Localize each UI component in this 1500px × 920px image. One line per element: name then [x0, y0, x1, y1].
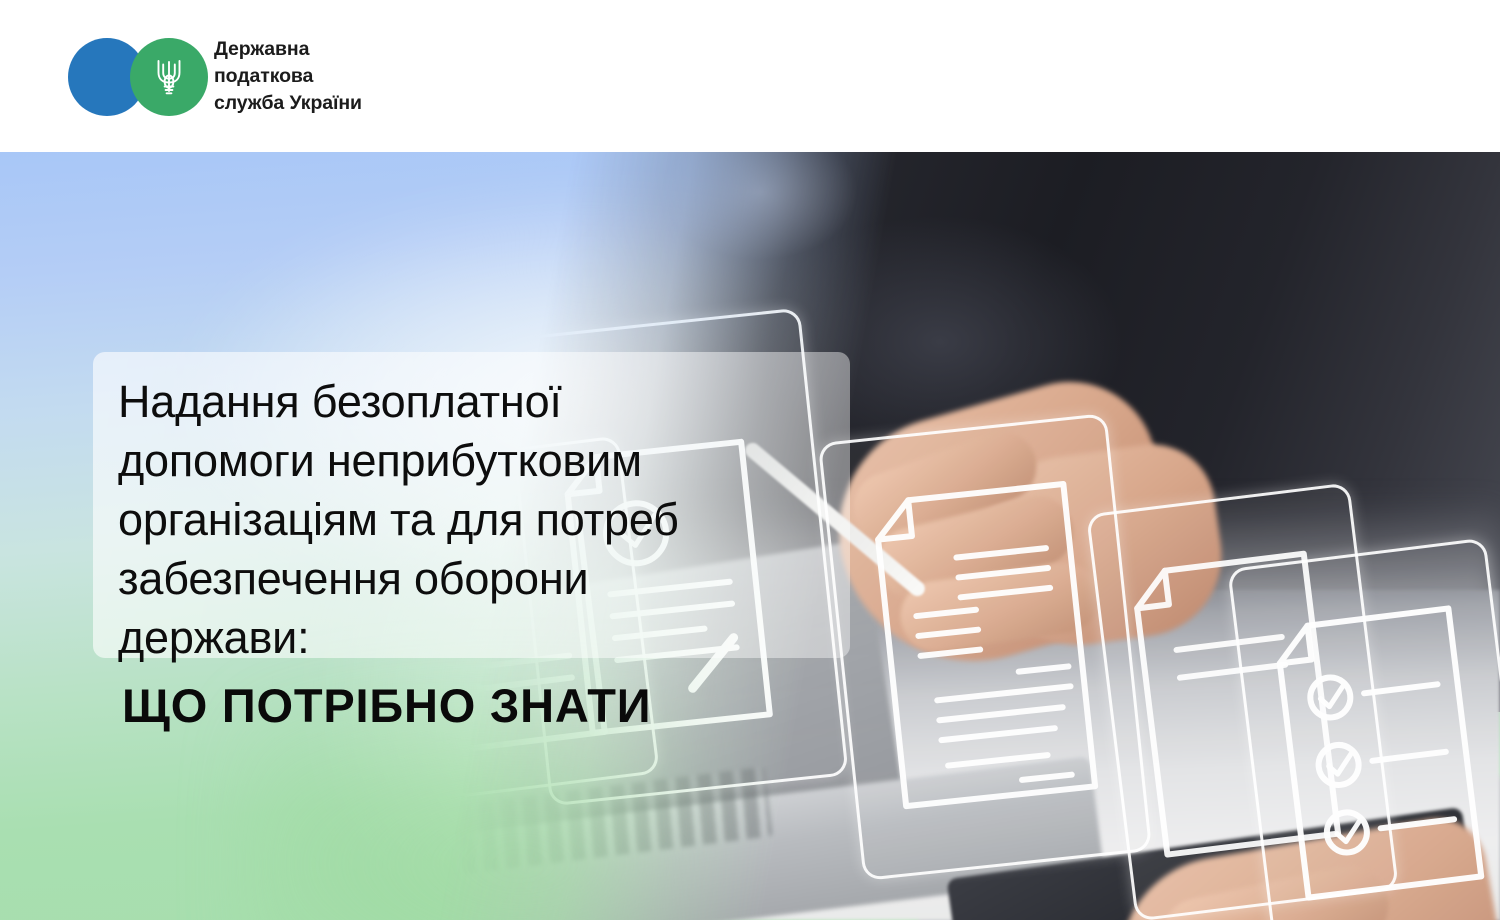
logo-marks	[68, 38, 208, 116]
logo-text-line-1: Державна	[214, 36, 362, 63]
document-lines-icon	[863, 471, 1126, 823]
logo-text-line-2: податкова	[214, 63, 362, 90]
header-bar: Державна податкова служба України	[0, 0, 1500, 152]
checklist-icon	[1265, 595, 1500, 918]
logo-green-circle	[130, 38, 208, 116]
ukraine-trident-icon	[152, 57, 186, 97]
organization-logo[interactable]: Державна податкова служба України	[68, 36, 362, 117]
page-title: Надання безоплатної допомоги неприбутков…	[118, 372, 878, 667]
headline-line-1: Надання безоплатної	[118, 376, 562, 427]
page-subtitle: ЩО ПОТРІБНО ЗНАТИ	[122, 676, 651, 736]
headline-line-4: забезпечення оборони	[118, 553, 588, 604]
headline-line-3: організаціям та для потреб	[118, 494, 679, 545]
organization-name: Державна податкова служба України	[214, 36, 362, 117]
infographic-banner: Надання безоплатної допомоги неприбутков…	[0, 0, 1500, 920]
headline-line-5: держави:	[118, 612, 309, 663]
headline-line-2: допомоги неприбутковим	[118, 435, 642, 486]
logo-text-line-3: служба України	[214, 90, 362, 117]
